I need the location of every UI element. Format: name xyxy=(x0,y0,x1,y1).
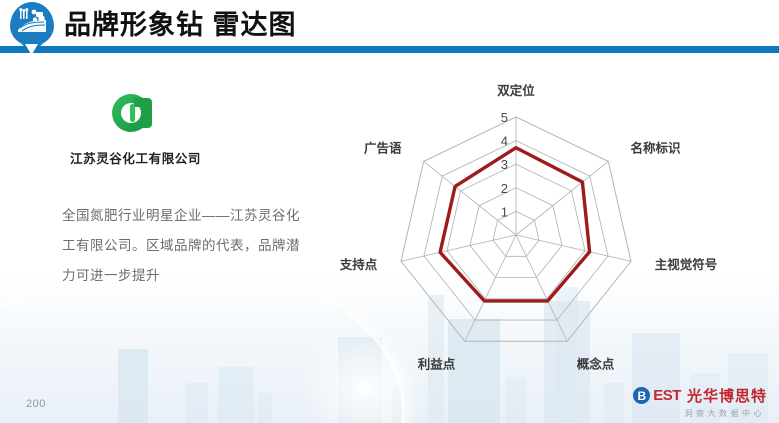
linggu-green-logo xyxy=(110,92,154,134)
header-divider-bar xyxy=(0,46,779,53)
radar-axis-label: 支持点 xyxy=(339,257,378,272)
brand-mark-icon: B xyxy=(633,387,650,404)
slide-header: 品牌形象钻 雷达图 xyxy=(0,0,779,58)
radar-axis-label: 双定位 xyxy=(496,83,535,98)
map-pin-agriculture-icon xyxy=(10,2,56,48)
radar-tick-label: 2 xyxy=(501,181,508,196)
radar-tick-label: 5 xyxy=(501,110,508,125)
building xyxy=(506,377,526,423)
company-name: 江苏灵谷化工有限公司 xyxy=(70,148,302,167)
radar-chart: 12345双定位名称标识主视觉符号概念点利益点支持点广告语 xyxy=(355,78,765,368)
page-title: 品牌形象钻 雷达图 xyxy=(64,4,297,46)
radar-tick-label: 3 xyxy=(501,157,508,172)
radar-tick-label: 4 xyxy=(501,134,508,149)
radar-axis-label: 名称标识 xyxy=(631,140,682,155)
brand-logo: B EST 光华博思特 洞察大数据中心 xyxy=(633,385,767,419)
radar-axis-label: 概念点 xyxy=(577,357,615,372)
radar-tick-label: 1 xyxy=(501,204,508,219)
brand-cn-text: 光华博思特 xyxy=(687,385,767,406)
slide: 品牌形象钻 雷达图 江苏灵谷化工有限公司 全国氮肥行业明星企业——江苏灵谷化工有… xyxy=(0,0,779,423)
radar-axis-label: 广告语 xyxy=(364,140,402,155)
brand-subtitle: 洞察大数据中心 xyxy=(633,408,765,419)
brand-est-text: EST xyxy=(653,387,681,404)
radar-axis-label: 利益点 xyxy=(418,357,456,372)
building xyxy=(604,383,624,423)
company-description: 全国氮肥行业明星企业——江苏灵谷化工有限公司。区域品牌的代表，品牌潜力可进一步提… xyxy=(62,201,302,291)
radar-axis-label: 主视觉符号 xyxy=(655,257,718,272)
page-number: 200 xyxy=(26,398,46,410)
left-info-panel: 江苏灵谷化工有限公司 全国氮肥行业明星企业——江苏灵谷化工有限公司。区域品牌的代… xyxy=(62,92,302,291)
